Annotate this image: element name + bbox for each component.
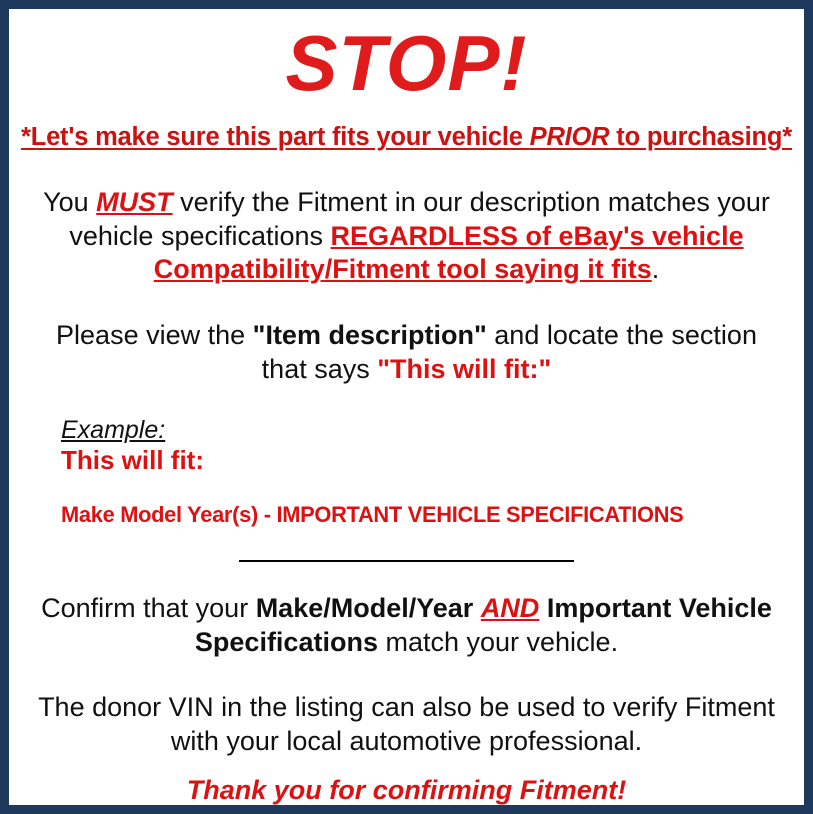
- paragraph-donor-vin: The donor VIN in the listing can also be…: [19, 691, 794, 759]
- tagline-prefix: *Let's make sure this part fits your veh…: [21, 123, 530, 151]
- must-seg1: You: [43, 187, 96, 217]
- paragraph-confirm: Confirm that your Make/Model/Year AND Im…: [19, 592, 794, 660]
- tagline: *Let's make sure this part fits your veh…: [19, 123, 794, 152]
- confirm-seg2: [473, 593, 481, 623]
- example-label-row: Example:: [61, 417, 794, 445]
- example-block: Example: This will fit: Make Model Year(…: [19, 417, 794, 528]
- confirm-seg3: [539, 593, 547, 623]
- tagline-suffix: to purchasing*: [609, 123, 792, 151]
- confirm-seg4: match your vehicle.: [378, 627, 618, 657]
- divider-row: [19, 552, 794, 566]
- must-emphasis: MUST: [96, 187, 173, 217]
- item-description-emphasis: "Item description": [253, 320, 487, 350]
- paragraph-view-description: Please view the "Item description" and l…: [19, 319, 794, 387]
- confirm-seg1: Confirm that your: [41, 593, 256, 623]
- thank-you-line: Thank you for confirming Fitment!: [19, 775, 794, 806]
- horizontal-divider: [239, 560, 574, 562]
- this-will-fit-emphasis: "This will fit:": [377, 354, 551, 384]
- notice-content: STOP! *Let's make sure this part fits yo…: [9, 9, 804, 805]
- must-seg3: .: [652, 254, 660, 284]
- example-spec-line: Make Model Year(s) - IMPORTANT VEHICLE S…: [61, 502, 772, 528]
- example-label: Example:: [61, 417, 165, 445]
- view-seg1: Please view the: [56, 320, 253, 350]
- paragraph-must-verify: You MUST verify the Fitment in our descr…: [19, 186, 794, 287]
- example-fit-heading: This will fit:: [61, 446, 794, 476]
- make-model-year-emphasis: Make/Model/Year: [256, 593, 474, 623]
- page-title: STOP!: [19, 23, 794, 105]
- fitment-notice-card: STOP! *Let's make sure this part fits yo…: [0, 0, 813, 814]
- and-emphasis: AND: [481, 593, 540, 623]
- tagline-emphasis-prior: PRIOR: [530, 123, 610, 151]
